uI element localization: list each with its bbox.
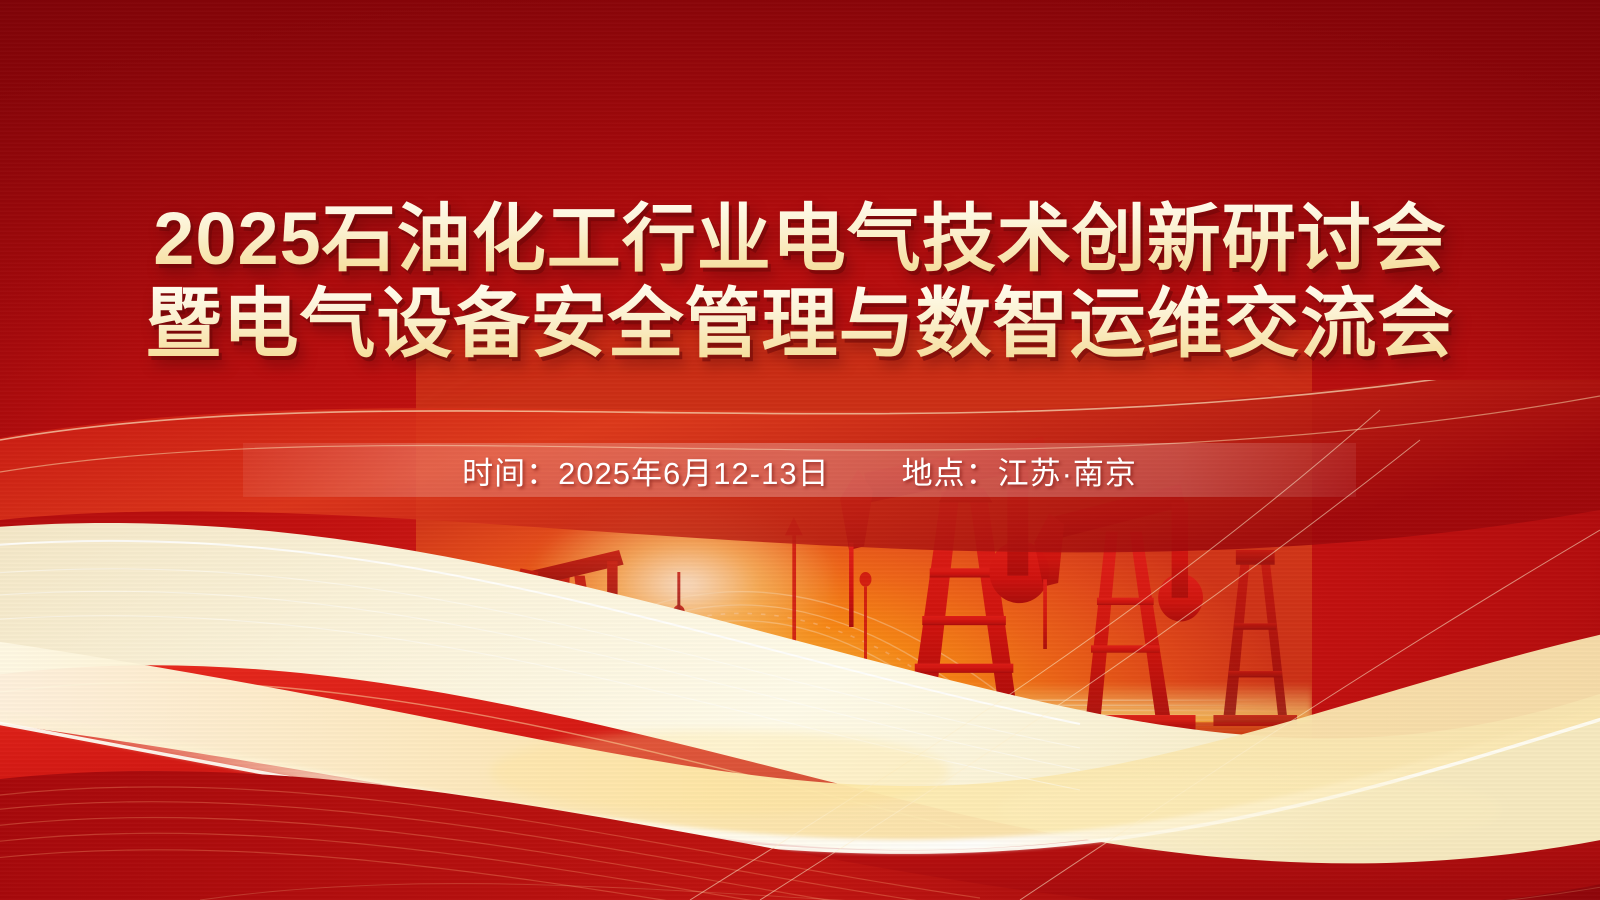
event-info-bar: 时间：2025年6月12-13日 地点：江苏·南京 xyxy=(243,443,1356,497)
conference-poster: 2025石油化工行业电气技术创新研讨会 暨电气设备安全管理与数智运维交流会 时间… xyxy=(0,0,1600,900)
title-line-2: 暨电气设备安全管理与数智运维交流会 xyxy=(0,282,1600,368)
poster-content: 2025石油化工行业电气技术创新研讨会 暨电气设备安全管理与数智运维交流会 时间… xyxy=(0,0,1600,900)
event-location: 地点：江苏·南京 xyxy=(902,448,1137,493)
event-time: 时间：2025年6月12-13日 xyxy=(462,448,830,493)
poster-title: 2025石油化工行业电气技术创新研讨会 暨电气设备安全管理与数智运维交流会 xyxy=(0,196,1600,368)
title-line-1: 2025石油化工行业电气技术创新研讨会 xyxy=(0,196,1600,282)
